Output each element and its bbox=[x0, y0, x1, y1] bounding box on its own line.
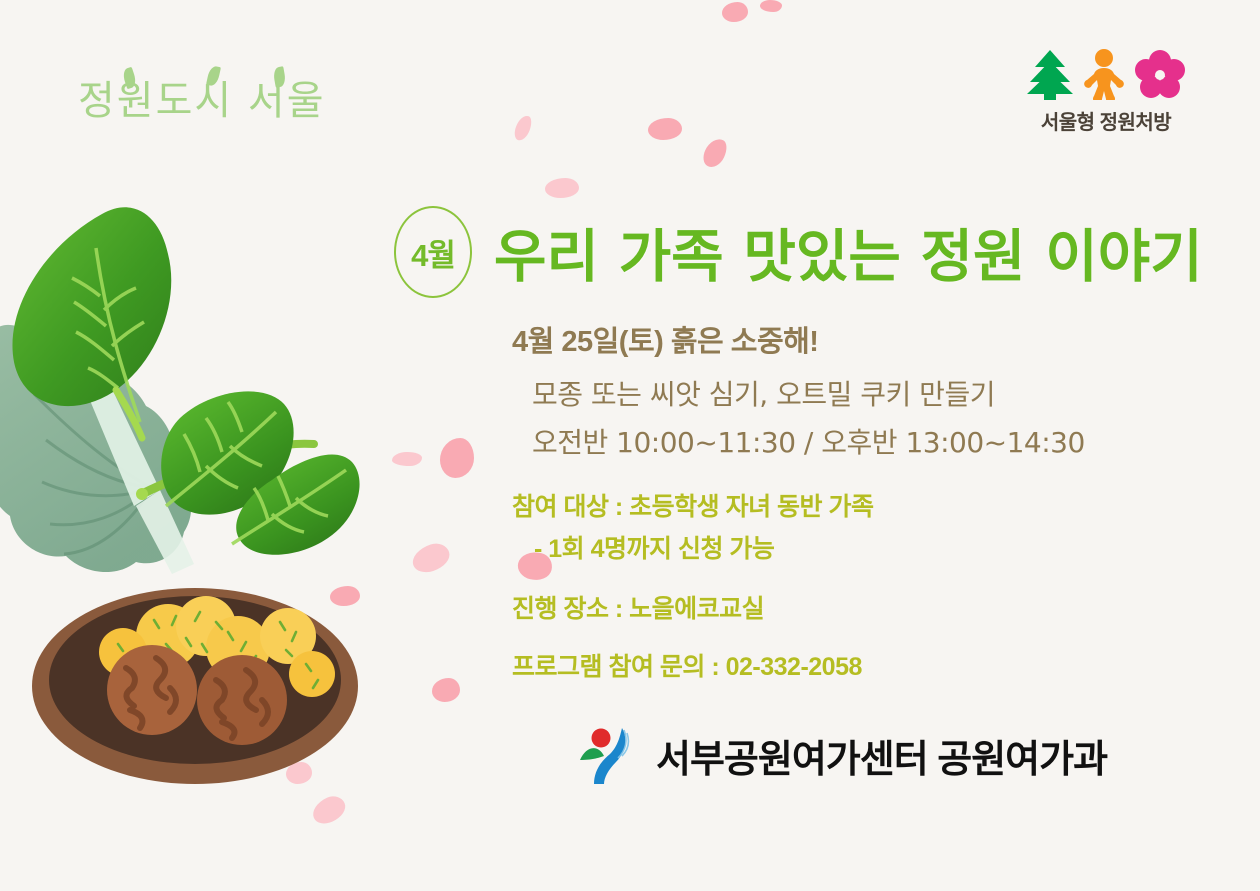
petal-icon bbox=[512, 113, 534, 142]
petal-icon bbox=[700, 135, 731, 171]
logo-green-mountain bbox=[580, 748, 604, 760]
petal-icon bbox=[648, 118, 682, 140]
brand-seoul-garden-prescription: 서울형 정원처방 bbox=[1016, 44, 1196, 135]
poster-content: 4월 우리 가족 맛있는 정원 이야기 4월 25일(토) 흙은 소중해! 모종… bbox=[394, 196, 1214, 683]
brand-right-label: 서울형 정원처방 bbox=[1016, 106, 1196, 135]
event-subtitle: 4월 25일(토) 흙은 소중해! bbox=[512, 318, 1214, 360]
event-activity: 모종 또는 씨앗 심기, 오트밀 쿠키 만들기 bbox=[532, 373, 1214, 413]
footer: 서부공원여가센터 공원여가과 bbox=[578, 724, 1107, 786]
petal-icon bbox=[722, 2, 748, 22]
cookie-brown bbox=[107, 645, 197, 735]
detail-venue: 진행 장소 : 노을에코교실 bbox=[512, 589, 1214, 625]
logo-red-dot bbox=[592, 729, 611, 748]
cookie-yellow bbox=[289, 651, 335, 697]
month-badge: 4월 bbox=[394, 206, 472, 298]
petal-icon bbox=[545, 178, 579, 198]
garden-vegetable-illustration bbox=[0, 150, 404, 620]
cookie-brown bbox=[197, 655, 287, 745]
title-row: 4월 우리 가족 맛있는 정원 이야기 bbox=[394, 196, 1214, 308]
leaf-1 bbox=[12, 207, 171, 406]
footer-organization: 서부공원여가센터 공원여가과 bbox=[656, 728, 1107, 783]
bowl-svg bbox=[30, 558, 360, 788]
detail-contact: 프로그램 참여 문의 : 02-332-2058 bbox=[512, 647, 1214, 683]
seoul-city-logo bbox=[578, 724, 634, 786]
tree-icon bbox=[1027, 48, 1073, 100]
brand-garden-city-seoul: 정원도시 서울 bbox=[78, 66, 328, 136]
page-title: 우리 가족 맛있는 정원 이야기 bbox=[494, 211, 1203, 293]
event-times: 오전반 10:00~11:30 / 오후반 13:00~14:30 bbox=[532, 421, 1214, 461]
petal-icon bbox=[309, 792, 350, 828]
poster-canvas: 정원도시 서울 bbox=[0, 0, 1260, 891]
flower-icon bbox=[1135, 50, 1185, 100]
leaves-svg bbox=[0, 150, 404, 620]
stem-node bbox=[136, 488, 148, 500]
brand-left-label: 정원도시 서울 bbox=[78, 66, 328, 136]
brand-right-icon-row bbox=[1016, 44, 1196, 100]
cookie-bowl-illustration bbox=[30, 558, 360, 788]
person-icon bbox=[1082, 48, 1126, 100]
petal-icon bbox=[760, 0, 782, 12]
detail-target: 참여 대상 : 초등학생 자녀 동반 가족 bbox=[512, 487, 1214, 523]
detail-target-note: - 1회 4명까지 신청 가능 bbox=[534, 529, 1214, 565]
